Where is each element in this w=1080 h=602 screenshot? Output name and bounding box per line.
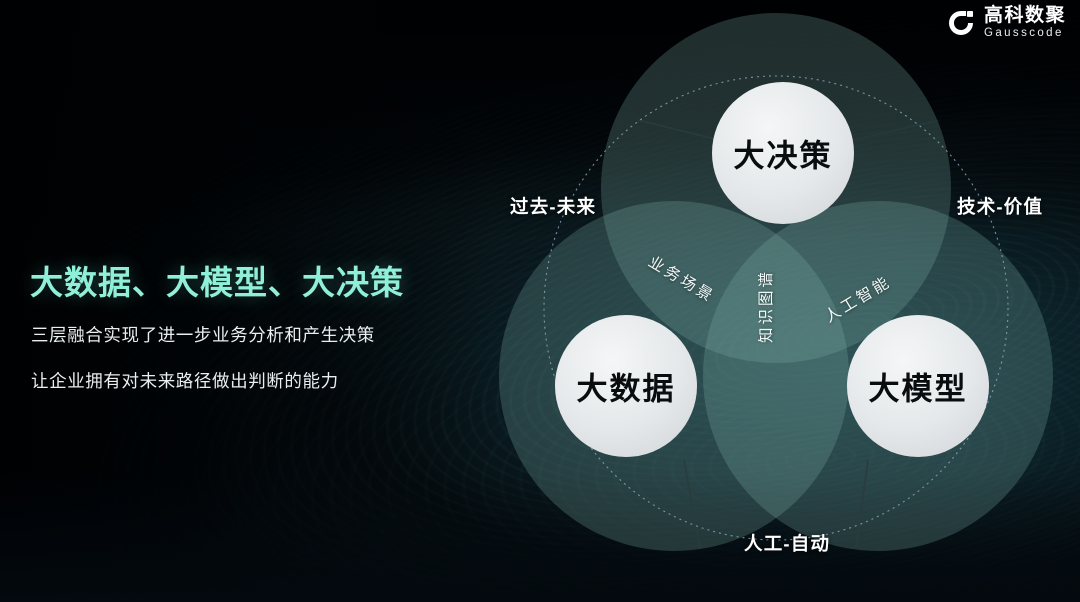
brand-name-cn: 高科数聚 xyxy=(984,6,1066,25)
annotation-tech-value: 技术-价值 xyxy=(957,193,1043,219)
venn-core-label-bigdata: 大数据 xyxy=(577,364,676,409)
brand-logo-text: 高科数聚 Gausscode xyxy=(984,6,1066,40)
slide-subtitle-line-1: 三层融合实现了进一步业务分析和产生决策 xyxy=(31,322,375,347)
slide-subtitle-line-2: 让企业拥有对未来路径做出判断的能力 xyxy=(31,368,339,393)
venn-diagram: 大决策 大数据 大模型 业务场景 人工智能 知识图谱 xyxy=(488,8,1080,602)
venn-core-label-model: 大模型 xyxy=(869,364,968,409)
venn-core-label-decision: 大决策 xyxy=(734,131,833,176)
slide-title: 大数据、大模型、大决策 xyxy=(30,256,404,304)
annotation-past-future: 过去-未来 xyxy=(510,193,596,219)
brand-name-en: Gausscode xyxy=(984,28,1066,40)
brand-logo: 高科数聚 Gausscode xyxy=(946,6,1066,40)
gausscode-circle-icon xyxy=(946,8,976,38)
slide-canvas: 高科数聚 Gausscode 大数据、大模型、大决策 三层融合实现了进一步业务分… xyxy=(0,0,1080,602)
annotation-manual-auto: 人工-自动 xyxy=(744,530,830,556)
venn-intersection-label-knowledge-graph: 知识图谱 xyxy=(754,269,776,343)
